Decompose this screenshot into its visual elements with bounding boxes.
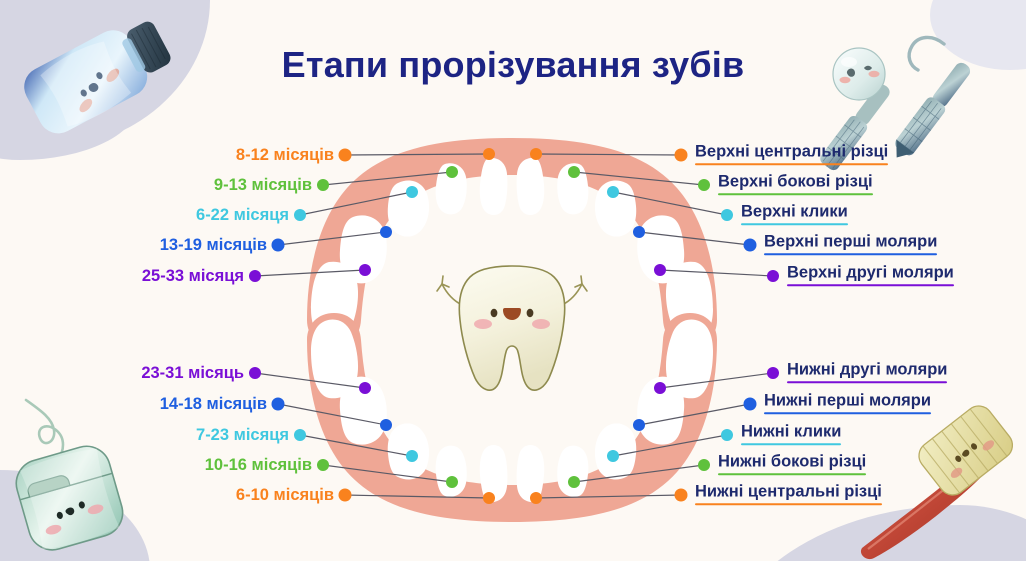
leader-line-lower-right-3: [613, 435, 727, 456]
time-label-upper-2: 9-13 місяців: [214, 177, 312, 194]
label-dot-lower-left-4: [317, 459, 329, 471]
tooth-label-underline-upper-1: [695, 163, 888, 165]
tooth-dot-upper-right-lateral-incisor: [568, 166, 580, 178]
label-dot-lower-left-1: [249, 367, 261, 379]
leader-line-lower-right-1: [660, 373, 773, 388]
leader-line-upper-left-3: [300, 192, 412, 215]
time-label-lower-1: 23-31 місяць: [141, 365, 244, 382]
tooth-dot-upper-left-second-molar: [359, 264, 371, 276]
tooth-dot-upper-left-lateral-incisor: [446, 166, 458, 178]
tooth-label-underline-lower-4: [718, 473, 866, 475]
leader-line-upper-right-3: [613, 192, 727, 215]
tooth-dot-upper-left-first-molar: [380, 226, 392, 238]
tooth-label-underline-lower-3: [741, 443, 841, 445]
tooth-label-underline-lower-2: [764, 412, 931, 414]
label-dot-upper-right-1: [675, 149, 688, 162]
tooth-dot-lower-left-first-molar: [380, 419, 392, 431]
tooth-dot-lower-left-second-molar: [359, 382, 371, 394]
tooth-dot-upper-right-second-molar: [654, 264, 666, 276]
time-label-upper-4: 13-19 місяців: [160, 237, 267, 254]
tooth-dot-lower-right-lateral-incisor: [568, 476, 580, 488]
tooth-label-upper-5: Верхні другі моляри: [787, 264, 954, 286]
leader-line-upper-right-5: [660, 270, 773, 276]
label-dot-lower-left-3: [294, 429, 306, 441]
tooth-label-lower-5: Нижні центральні різці: [695, 483, 882, 505]
time-label-upper-3: 6-22 місяця: [196, 207, 289, 224]
tooth-label-underline-upper-4: [764, 253, 937, 255]
tooth-dot-lower-right-canine: [607, 450, 619, 462]
label-dot-upper-left-4: [272, 239, 285, 252]
leader-line-lower-right-2: [639, 404, 750, 425]
leader-line-lower-left-3: [300, 435, 412, 456]
tooth-dot-lower-right-second-molar: [654, 382, 666, 394]
label-dot-upper-right-3: [721, 209, 733, 221]
label-dot-upper-left-3: [294, 209, 306, 221]
leader-line-upper-left-5: [255, 270, 365, 276]
label-dot-lower-left-2: [272, 398, 285, 411]
tooth-label-underline-lower-5: [695, 503, 882, 505]
label-dot-upper-left-5: [249, 270, 261, 282]
time-label-lower-2: 14-18 місяців: [160, 396, 267, 413]
tooth-label-underline-upper-3: [741, 223, 848, 225]
tooth-dot-lower-left-canine: [406, 450, 418, 462]
label-dot-lower-right-2: [744, 398, 757, 411]
tooth-dot-upper-left-central-incisor: [483, 148, 495, 160]
tooth-dot-lower-left-lateral-incisor: [446, 476, 458, 488]
label-dot-upper-left-2: [317, 179, 329, 191]
tooth-label-underline-lower-1: [787, 381, 947, 383]
leader-line-upper-left-1: [345, 154, 489, 155]
label-dot-lower-right-3: [721, 429, 733, 441]
tooth-dot-upper-left-canine: [406, 186, 418, 198]
tooth-label-underline-upper-5: [787, 284, 954, 286]
leader-line-lower-left-4: [323, 465, 452, 482]
leader-line-lower-right-4: [574, 465, 704, 482]
leader-line-upper-right-2: [574, 172, 704, 185]
label-dot-upper-right-2: [698, 179, 710, 191]
time-label-upper-1: 8-12 місяців: [236, 147, 334, 164]
leader-line-upper-right-1: [536, 154, 681, 155]
tooth-label-upper-3: Верхні клики: [741, 203, 848, 225]
tooth-dot-lower-right-first-molar: [633, 419, 645, 431]
time-label-lower-4: 10-16 місяців: [205, 457, 312, 474]
tooth-label-lower-1: Нижні другі моляри: [787, 361, 947, 383]
tooth-dot-upper-right-central-incisor: [530, 148, 542, 160]
leader-line-lower-left-1: [255, 373, 365, 388]
tooth-label-lower-4: Нижні бокові різці: [718, 453, 866, 475]
leader-line-upper-left-2: [323, 172, 452, 185]
time-label-lower-5: 6-10 місяців: [236, 487, 334, 504]
tooth-label-lower-3: Нижні клики: [741, 423, 841, 445]
tooth-dot-lower-right-central-incisor: [530, 492, 542, 504]
label-dot-lower-right-4: [698, 459, 710, 471]
tooth-label-upper-4: Верхні перші моляри: [764, 233, 937, 255]
leader-line-lower-left-5: [345, 495, 489, 498]
tooth-label-upper-1: Верхні центральні різці: [695, 143, 888, 165]
label-dot-lower-left-5: [339, 489, 352, 502]
leader-line-lower-left-2: [278, 404, 386, 425]
label-dot-upper-left-1: [339, 149, 352, 162]
tooth-dot-lower-left-central-incisor: [483, 492, 495, 504]
label-dot-lower-right-5: [675, 489, 688, 502]
leader-line-upper-right-4: [639, 232, 750, 245]
time-label-lower-3: 7-23 місяця: [196, 427, 289, 444]
label-dot-upper-right-5: [767, 270, 779, 282]
leader-line-lower-right-5: [536, 495, 681, 498]
tooth-label-upper-2: Верхні бокові різці: [718, 173, 873, 195]
leader-line-upper-left-4: [278, 232, 386, 245]
tooth-label-lower-2: Нижні перші моляри: [764, 392, 931, 414]
tooth-label-underline-upper-2: [718, 193, 873, 195]
label-dot-upper-right-4: [744, 239, 757, 252]
label-dot-lower-right-1: [767, 367, 779, 379]
tooth-dot-upper-right-first-molar: [633, 226, 645, 238]
infographic-canvas: Етапи прорізування зубів: [0, 0, 1026, 561]
tooth-dot-upper-right-canine: [607, 186, 619, 198]
time-label-upper-5: 25-33 місяця: [142, 268, 244, 285]
